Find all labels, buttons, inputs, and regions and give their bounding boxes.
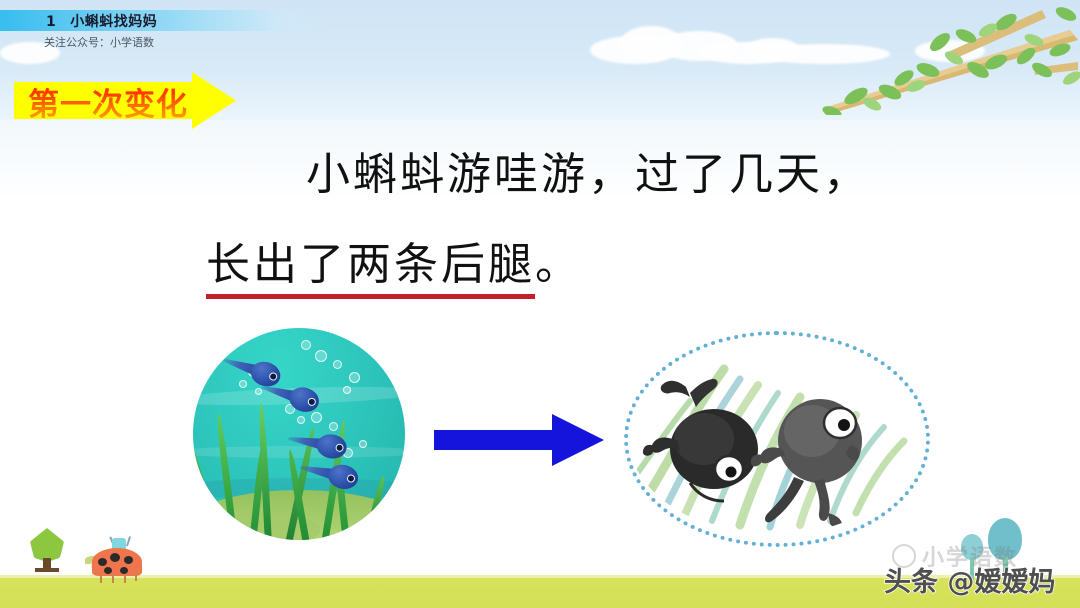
lesson-number: 1: [46, 14, 56, 30]
bubble: [349, 372, 360, 383]
bubble: [329, 422, 338, 431]
tree-base: [35, 568, 59, 572]
ladybug-spot: [98, 558, 107, 566]
bubble: [297, 416, 305, 424]
bubble: [301, 340, 311, 350]
author-watermark: 头条 @嫒嫒妈: [884, 560, 1055, 599]
sentence-line-2: 长出了两条后腿。: [206, 228, 582, 292]
page-title: 1小蝌蚪找妈妈: [46, 11, 157, 31]
sentence-underlined-phrase: 长出了两条后腿: [206, 239, 535, 299]
pond-circle-photo: [193, 328, 405, 540]
header-subtitle: 关注公众号：小学语数: [44, 34, 154, 50]
ladybug-spot: [104, 567, 112, 574]
sentence-line-1: 小蝌蚪游哇游，过了几天，: [306, 138, 870, 202]
ladybug-antenna: [126, 536, 131, 546]
sentence-period: 。: [535, 239, 582, 290]
bubble: [333, 360, 342, 369]
ladybug-spot: [124, 556, 133, 564]
ladybug-leg: [135, 572, 137, 581]
tree-icon: [30, 528, 64, 570]
ladybug-spot: [110, 553, 120, 562]
ladybug-icon: [88, 536, 146, 576]
tree-crown: [30, 528, 64, 562]
ladybug-leg: [112, 574, 114, 583]
bubble: [311, 412, 322, 423]
ladybug-spot: [120, 567, 128, 574]
bubble: [343, 386, 351, 394]
ladybug-leg: [124, 574, 126, 583]
bubble: [255, 388, 262, 395]
slide-canvas: 1小蝌蚪找妈妈 关注公众号：小学语数 第一次变化 小蝌蚪游哇游，过了几天， 长出…: [0, 0, 1080, 608]
tadpole-body: [248, 358, 284, 390]
bubble: [315, 350, 327, 362]
bubble: [239, 380, 247, 388]
section-banner-label: 第一次变化: [18, 77, 198, 125]
oval-dotted-border: [624, 331, 930, 547]
branch-decoration: [820, 0, 1080, 115]
lesson-title: 小蝌蚪找妈妈: [70, 14, 157, 30]
bubble: [359, 440, 367, 448]
ladybug-leg: [100, 574, 102, 583]
transformation-arrow: [434, 414, 604, 466]
